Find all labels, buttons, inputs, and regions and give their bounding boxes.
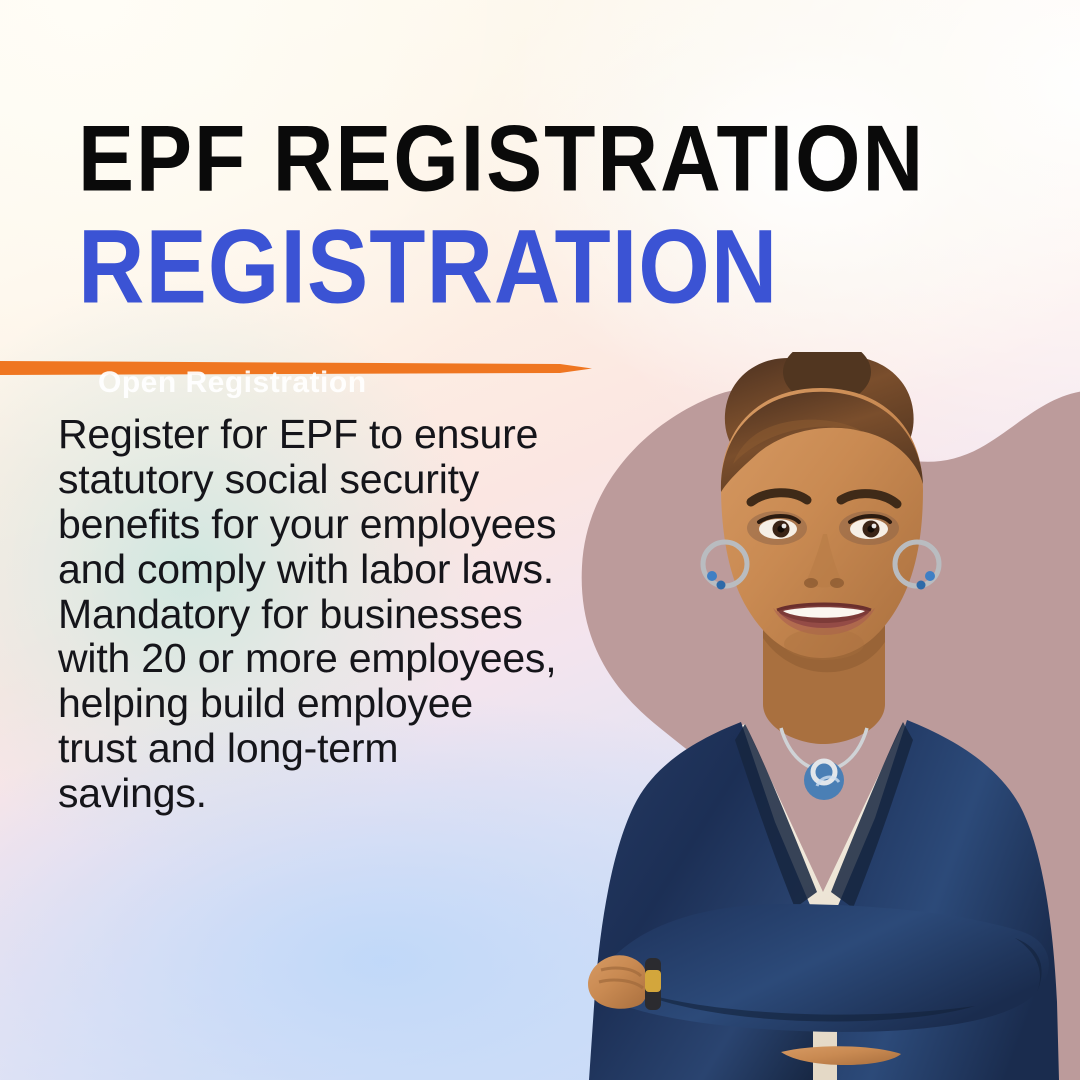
headline-primary: EPF REGISTRATION [78,112,1018,204]
eyebrow-label: Open Registration [98,366,367,400]
portrait-photo [545,352,1080,1080]
headline-block: EPF REGISTRATION REGISTRATION [78,112,1018,306]
body-paragraph: Register for EPF to ensure statutory soc… [58,412,558,816]
poster-canvas: EPF REGISTRATION REGISTRATION Open Regis… [0,0,1080,1080]
headline-accent: REGISTRATION [78,216,1018,319]
